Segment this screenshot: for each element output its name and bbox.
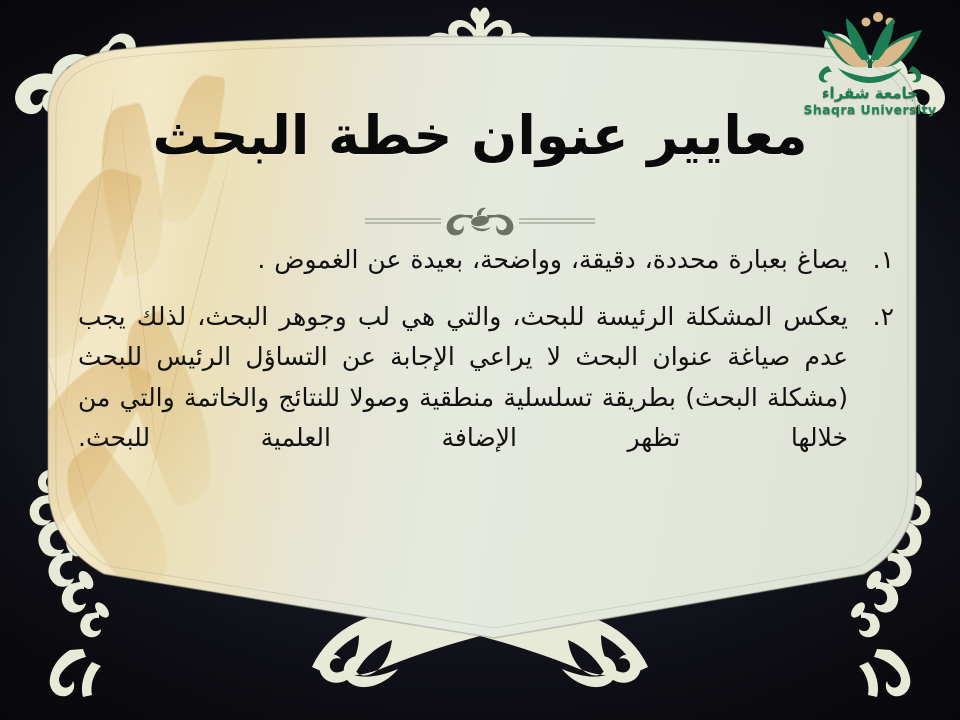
list-item-text: يصاغ بعبارة محددة، دقيقة، وواضحة، بعيدة …: [78, 240, 848, 281]
logo-arabic-name: جامعة شقراء: [794, 84, 946, 102]
open-book-icon: [794, 6, 946, 84]
ornamental-divider: [365, 205, 595, 237]
shaqra-university-logo: جامعة شقراء Shaqra University: [794, 6, 946, 114]
list-item-marker: ٢.: [848, 297, 894, 338]
list-item: ٢. يعكس المشكلة الرئيسة للبحث، والتي هي …: [78, 297, 894, 459]
list-item: ١. يصاغ بعبارة محددة، دقيقة، وواضحة، بعي…: [78, 240, 894, 281]
slide-canvas: جامعة شقراء Shaqra University معايير عنو…: [0, 0, 960, 720]
criteria-list: ١. يصاغ بعبارة محددة، دقيقة، وواضحة، بعي…: [78, 240, 894, 475]
list-item-text: يعكس المشكلة الرئيسة للبحث، والتي هي لب …: [78, 297, 848, 459]
list-item-marker: ١.: [848, 240, 894, 281]
slide-title: معايير عنوان خطة البحث: [0, 104, 960, 167]
